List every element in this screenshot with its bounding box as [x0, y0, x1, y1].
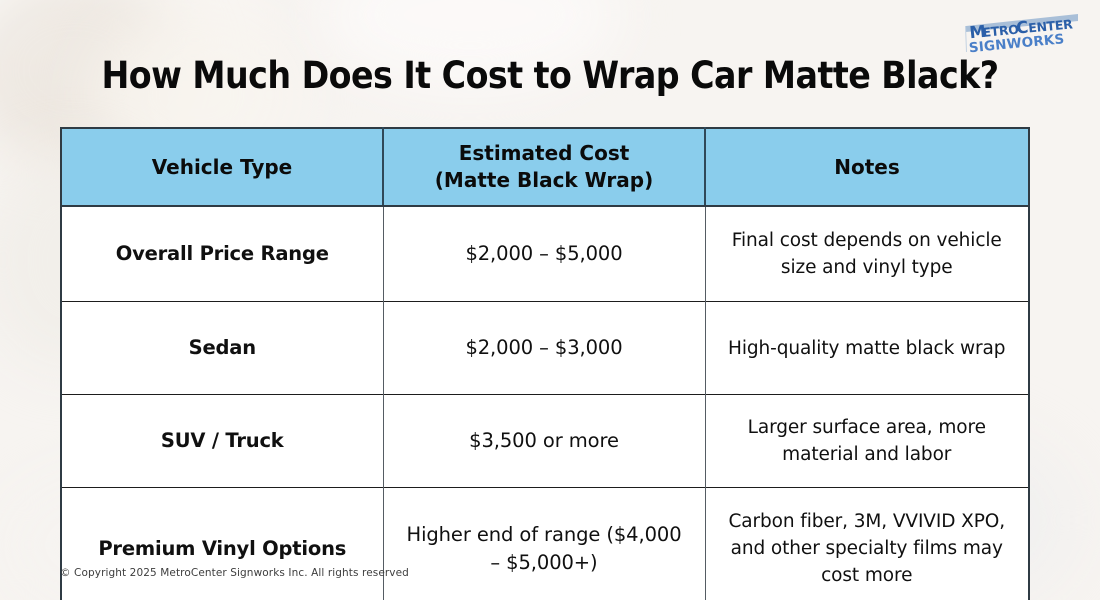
infographic-page: M ETRO C ENTER SIGNWORKS How Much Does I… [0, 0, 1100, 600]
cell-vehicle-type: Premium Vinyl Options [61, 488, 383, 600]
cell-vehicle-type: Sedan [61, 302, 383, 395]
column-header-estimated-cost: Estimated Cost (Matte Black Wrap) [383, 128, 705, 206]
column-header-notes: Notes [705, 128, 1029, 206]
table-row: Premium Vinyl Options Higher end of rang… [61, 488, 1029, 600]
copyright-text: © Copyright 2025 MetroCenter Signworks I… [60, 566, 409, 580]
table-header-row: Vehicle Type Estimated Cost (Matte Black… [61, 128, 1029, 206]
cost-table: Vehicle Type Estimated Cost (Matte Black… [60, 127, 1030, 600]
cell-notes: Carbon fiber, 3M, VVIVID XPO, and other … [705, 488, 1029, 600]
cell-notes: Final cost depends on vehicle size and v… [705, 206, 1029, 302]
cell-estimated-cost: Higher end of range ($4,000 – $5,000+) [383, 488, 705, 600]
column-header-label: Estimated Cost [459, 141, 630, 165]
cell-estimated-cost: $2,000 – $5,000 [383, 206, 705, 302]
page-title: How Much Does It Cost to Wrap Car Matte … [55, 52, 1045, 100]
column-header-vehicle-type: Vehicle Type [61, 128, 383, 206]
cell-estimated-cost: $3,500 or more [383, 395, 705, 488]
table-row: Sedan $2,000 – $3,000 High-quality matte… [61, 302, 1029, 395]
table-row: Overall Price Range $2,000 – $5,000 Fina… [61, 206, 1029, 302]
column-header-label: Vehicle Type [152, 155, 292, 179]
cell-estimated-cost: $2,000 – $3,000 [383, 302, 705, 395]
cell-notes: Larger surface area, more material and l… [705, 395, 1029, 488]
cell-vehicle-type: Overall Price Range [61, 206, 383, 302]
column-header-label: Notes [834, 155, 900, 179]
column-header-sublabel: (Matte Black Wrap) [435, 168, 653, 192]
cell-vehicle-type: SUV / Truck [61, 395, 383, 488]
table-row: SUV / Truck $3,500 or more Larger surfac… [61, 395, 1029, 488]
cell-notes: High-quality matte black wrap [705, 302, 1029, 395]
